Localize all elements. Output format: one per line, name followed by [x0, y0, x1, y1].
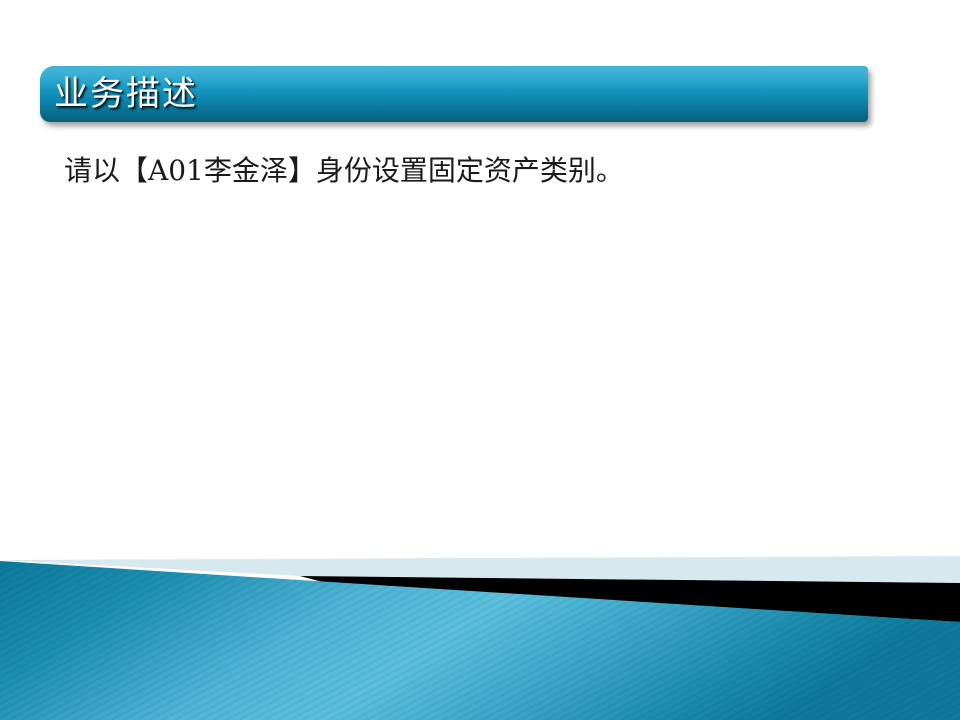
bottom-decoration — [0, 540, 960, 720]
slide-canvas: 业务描述 请以【A01李金泽】身份设置固定资产类别。 — [0, 0, 960, 720]
blue-wave-shape — [0, 561, 960, 720]
bottom-decoration-graphic — [0, 540, 960, 720]
section-title-banner: 业务描述 — [40, 66, 868, 122]
light-blue-band — [0, 556, 960, 584]
body-paragraph: 请以【A01李金泽】身份设置固定资产类别。 — [64, 152, 904, 190]
black-wedge — [300, 576, 960, 622]
page-title: 业务描述 — [54, 77, 198, 111]
blue-wave-texture — [0, 561, 960, 720]
